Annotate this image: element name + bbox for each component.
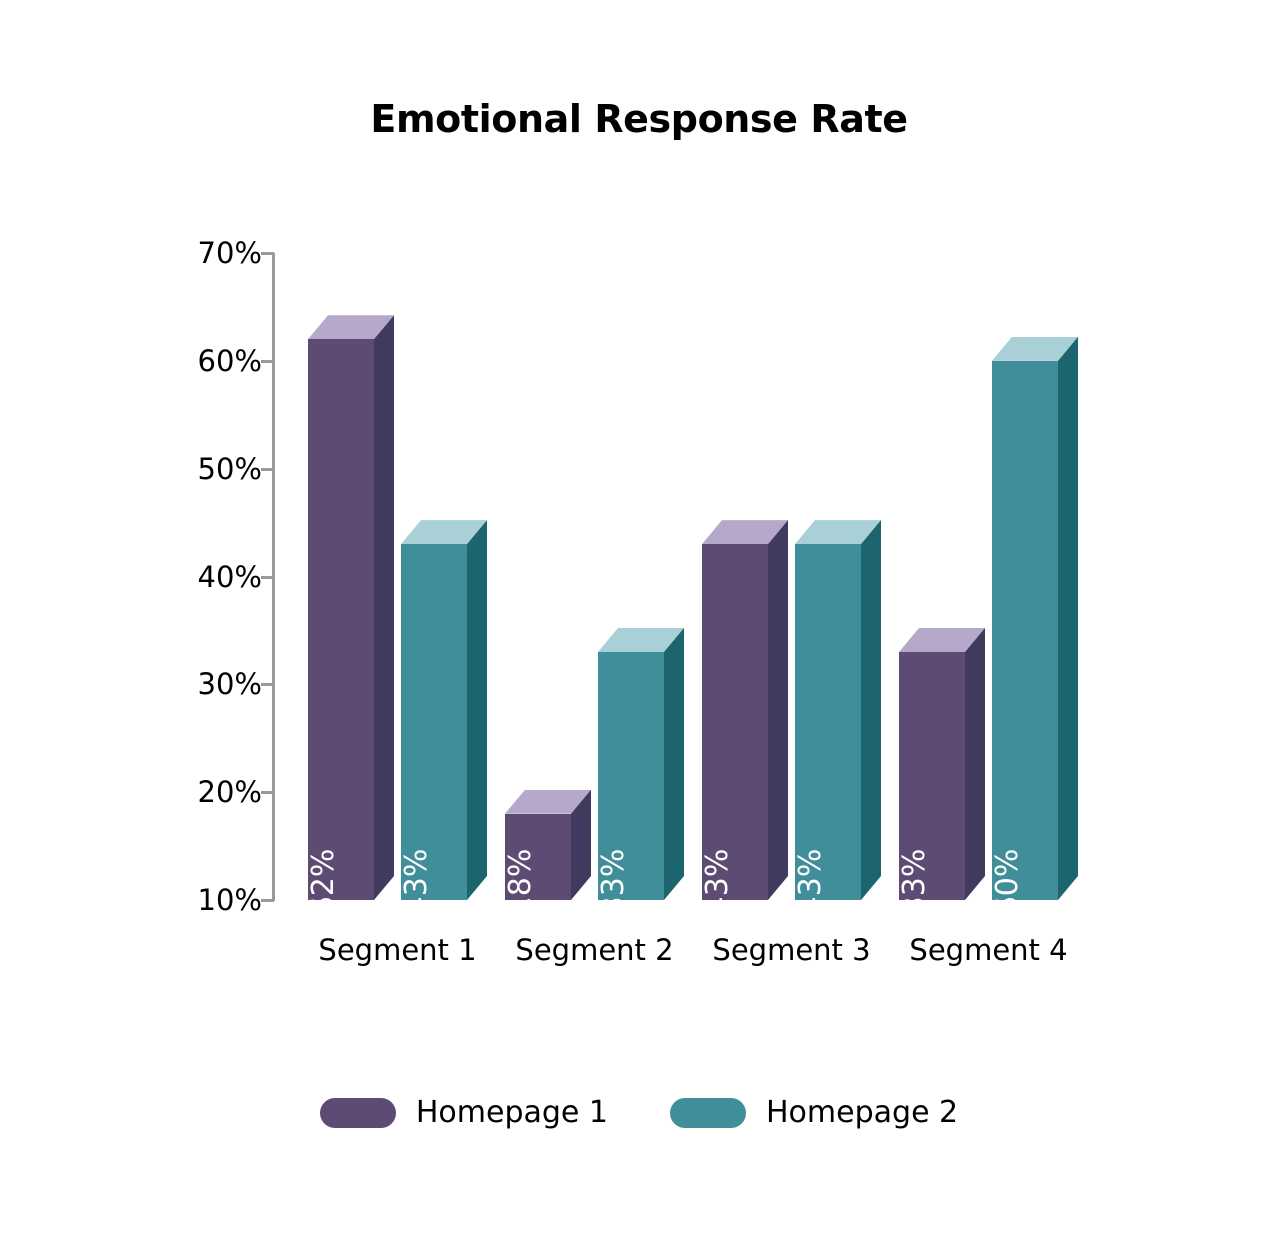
- chart-legend: Homepage 1Homepage 2: [0, 1095, 1278, 1130]
- bar-side-face: [1058, 337, 1078, 900]
- bar-side-face: [374, 315, 394, 900]
- bar: [702, 520, 788, 900]
- legend-swatch-icon: [670, 1098, 746, 1128]
- bar-value-label: 60%: [990, 849, 1025, 916]
- bar-side-face: [768, 520, 788, 900]
- bar-front-face: [795, 544, 861, 900]
- bar-value-label: 33%: [897, 849, 932, 916]
- bar-side-face: [861, 520, 881, 900]
- bar-value-label: 33%: [596, 849, 631, 916]
- bar-value-label: 43%: [793, 849, 828, 916]
- x-axis-category-label: Segment 4: [869, 933, 1109, 967]
- bar-value-label: 43%: [700, 849, 735, 916]
- bar-value-label: 62%: [306, 849, 341, 916]
- bar: [992, 337, 1078, 900]
- bar: [401, 520, 487, 900]
- bar-side-face: [467, 520, 487, 900]
- legend-label: Homepage 1: [416, 1095, 608, 1130]
- bar-side-face: [965, 628, 985, 900]
- bar-front-face: [702, 544, 768, 900]
- legend-item[interactable]: Homepage 1: [320, 1095, 608, 1130]
- chart-container: Emotional Response Rate Percentage respo…: [0, 0, 1278, 1254]
- legend-label: Homepage 2: [766, 1095, 958, 1130]
- legend-swatch-icon: [320, 1098, 396, 1128]
- bar: [308, 315, 394, 900]
- bar-value-label: 43%: [399, 849, 434, 916]
- plot-area: 62%43%18%33%43%43%33%60%: [0, 0, 1278, 1254]
- bar-value-label: 18%: [503, 849, 538, 916]
- legend-item[interactable]: Homepage 2: [670, 1095, 958, 1130]
- bar-front-face: [308, 339, 374, 900]
- bar: [795, 520, 881, 900]
- bar-front-face: [992, 361, 1058, 900]
- bar-side-face: [664, 628, 684, 900]
- bar-front-face: [401, 544, 467, 900]
